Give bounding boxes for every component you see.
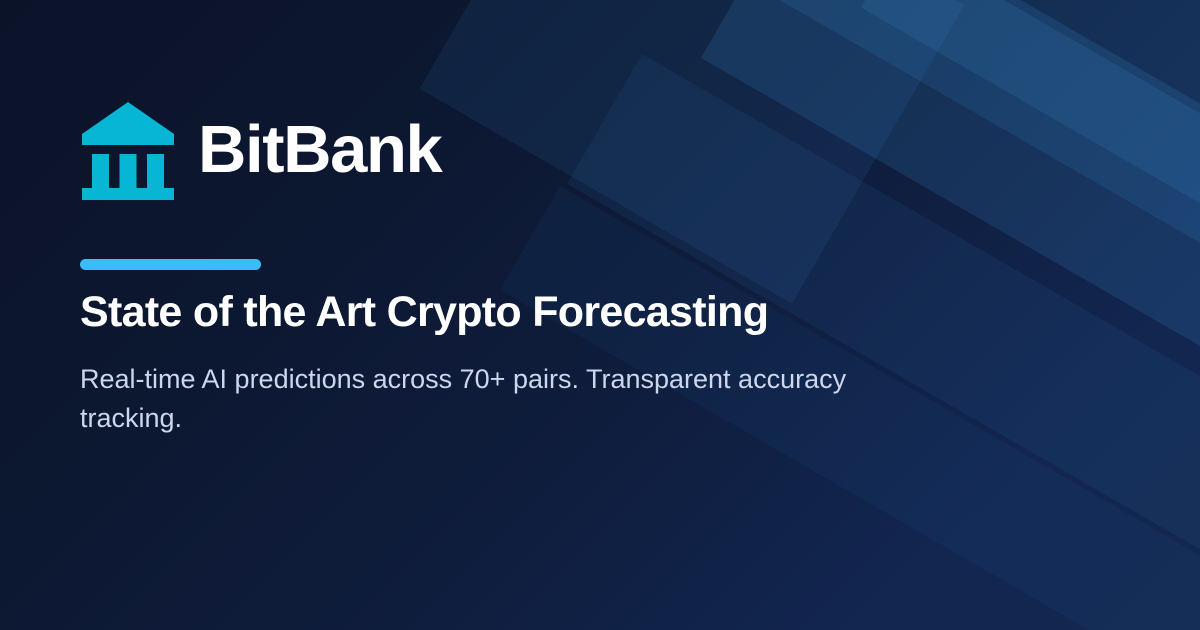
accent-bar [80,259,261,270]
og-hero-card: BitBank State of the Art Crypto Forecast… [0,0,1200,630]
page-subtitle: Real-time AI predictions across 70+ pair… [80,360,910,439]
hero-content: BitBank State of the Art Crypto Forecast… [80,0,980,630]
brand-name: BitBank [198,116,441,183]
page-title: State of the Art Crypto Forecasting [80,287,768,338]
brand-logo-lockup: BitBank [80,98,441,200]
bank-building-icon [80,98,176,200]
